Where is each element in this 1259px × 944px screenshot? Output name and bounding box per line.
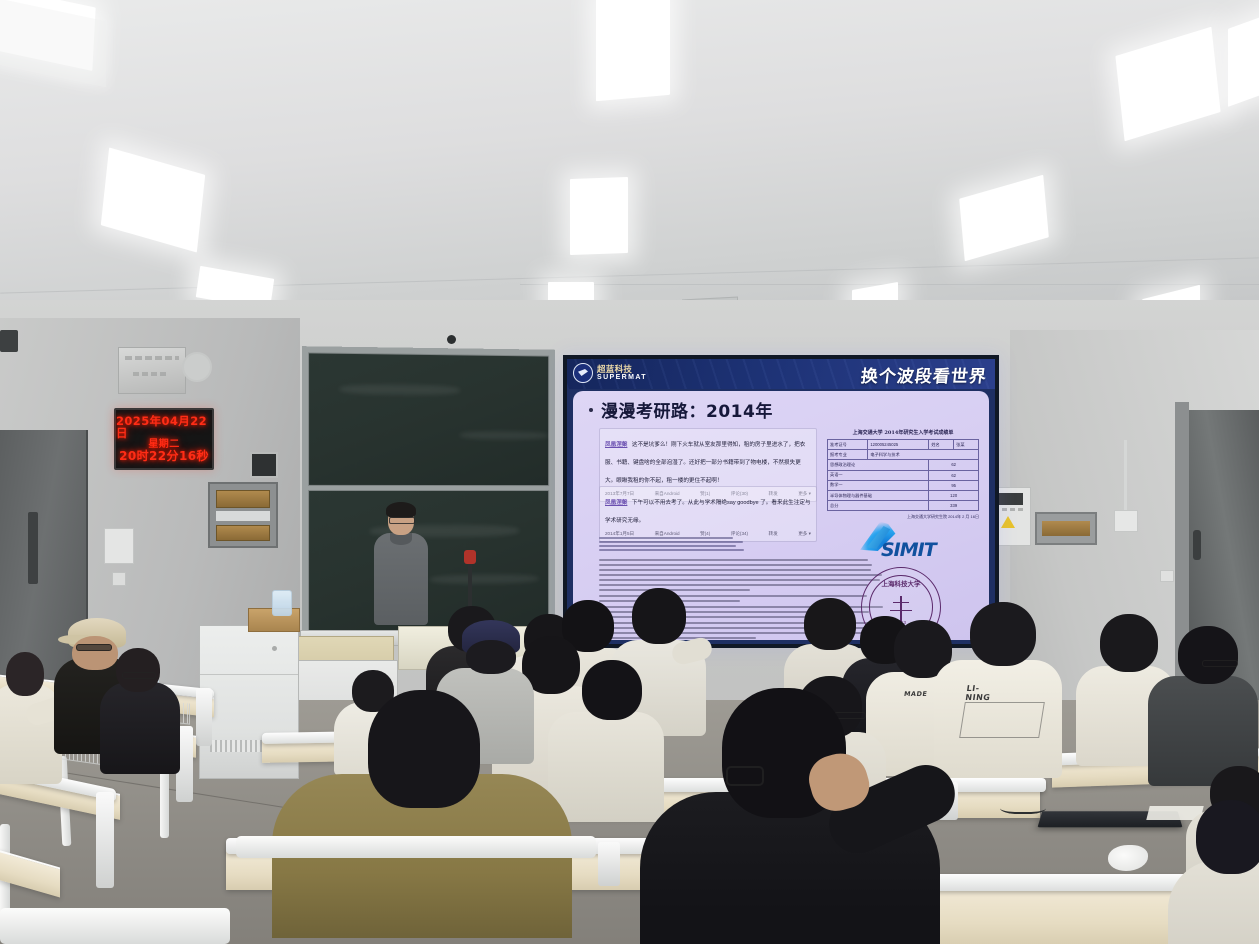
supermat-logo: 超蓝科技 SUPERMAT	[573, 363, 647, 383]
mail-paragraph	[599, 559, 885, 591]
mail-header-line	[599, 545, 736, 547]
chair-back	[236, 836, 596, 858]
desk-post	[196, 688, 212, 746]
score-value: 电子科学与技术	[868, 450, 979, 460]
glasses-icon	[726, 766, 764, 786]
sunglasses-icon	[76, 644, 112, 651]
door-handle-icon[interactable]	[28, 512, 38, 584]
seal-text-cn: 上海科技大学	[862, 578, 940, 588]
score-label: 报考专业	[828, 450, 868, 460]
classroom-photo: 2025年04月22日 星期二 20时22分16秒	[0, 0, 1259, 944]
glasses-icon	[389, 517, 415, 524]
mail-text-line	[599, 589, 750, 591]
mail-header-line	[599, 537, 733, 539]
mail-header-line	[599, 541, 743, 543]
score-label: 英语一	[828, 470, 929, 480]
score-label: 姓名	[929, 440, 954, 450]
slide-calligraphy: 换个波段看世界	[860, 362, 989, 387]
ceiling	[0, 0, 1259, 340]
mail-text-line	[599, 564, 872, 566]
ceiling-camera	[447, 335, 456, 344]
wall-plaque	[1035, 512, 1097, 545]
warning-triangle-icon	[1001, 516, 1015, 528]
desk-post	[598, 842, 620, 886]
light-switch[interactable]	[1160, 570, 1174, 582]
lecturer	[370, 505, 432, 625]
water-bottles	[272, 590, 292, 616]
supermat-badge-icon	[573, 363, 593, 383]
score-label: 准考证号	[828, 440, 868, 450]
ceiling-light-panel	[1115, 27, 1220, 142]
ceiling-light-panel	[101, 147, 205, 252]
simit-logo-text: SIMIT	[881, 539, 936, 561]
mail-header-line	[599, 549, 744, 551]
wall-equipment-box	[118, 347, 186, 394]
glasses-icon	[122, 672, 156, 679]
bullet-icon	[589, 408, 593, 412]
score-value: 95	[929, 480, 979, 490]
score-card-stamp: 上海交通大学研究生院 2014年 2 月 16日	[827, 514, 979, 520]
slide-title-row: 漫漫考研路：2014年	[589, 397, 773, 422]
junction-box	[1114, 510, 1138, 532]
score-value: 62	[929, 460, 979, 470]
mail-text-line	[599, 579, 880, 581]
desk-post	[96, 792, 114, 888]
weibo-username: 凤凰涅槃	[605, 500, 627, 506]
score-label: 半导体物理与器件基础	[828, 490, 929, 500]
wall-notice	[104, 528, 134, 564]
glasses-icon	[1202, 660, 1238, 667]
led-clock-display: 2025年04月22日 星期二 20时22分16秒	[114, 408, 214, 470]
mail-text-line	[599, 574, 882, 576]
ceiling-light-panel	[596, 0, 670, 101]
score-table: 准考证号 120005245025 姓名 张某 报考专业 电子科学与技术 思想政…	[827, 439, 979, 511]
score-card-title: 上海交通大学 2014年研究生入学考试成绩单	[827, 429, 979, 436]
weibo-username: 凤凰涅槃	[605, 442, 627, 448]
door-handle-icon[interactable]	[1193, 530, 1201, 560]
shirt-graphic: MADE	[903, 690, 927, 698]
cable	[1000, 800, 1046, 814]
score-value: 62	[929, 470, 979, 480]
simit-logo: SIMIT	[855, 521, 953, 561]
projector-mount	[182, 352, 212, 382]
wall-speaker	[0, 330, 18, 352]
weibo-text: 这不是坑爹么！刚下火车就从室友那里得知，租的房子里进水了，把衣服、书籍、键盘啥的…	[605, 442, 805, 484]
score-label: 数学一	[828, 480, 929, 490]
supermat-logo-cn: 超蓝科技	[597, 365, 647, 374]
score-value: 张某	[954, 440, 979, 450]
mail-text-line	[599, 569, 871, 571]
projection-screen: 超蓝科技 SUPERMAT 换个波段看世界 漫漫考研路：2014年 凤凰涅槃 这…	[563, 355, 999, 648]
slide-header: 超蓝科技 SUPERMAT 换个波段看世界	[567, 359, 995, 389]
score-value: 120	[929, 490, 979, 500]
seal-tower-icon	[900, 596, 902, 622]
score-value: 339	[929, 501, 979, 511]
score-label: 思想政治理论	[828, 460, 929, 470]
score-card: 上海交通大学 2014年研究生入学考试成绩单 准考证号 120005245025…	[827, 429, 979, 520]
mail-text-line	[599, 559, 868, 561]
clock-date: 2025年04月22日	[116, 416, 212, 440]
wall-conduit	[1124, 440, 1127, 512]
presentation-slide: 超蓝科技 SUPERMAT 换个波段看世界 漫漫考研路：2014年 凤凰涅槃 这…	[567, 359, 995, 644]
weibo-post: 凤凰涅槃 下午可以不用去考了。从此与学术隔绝say goodbye 了。看来此生…	[599, 486, 817, 542]
wall-monitor	[250, 452, 278, 478]
mail-text-line	[599, 584, 868, 586]
score-label: 总分	[828, 501, 929, 511]
clock-time: 20时22分16秒	[119, 450, 209, 462]
chair-back	[0, 908, 230, 944]
slide-title: 漫漫考研路：2014年	[601, 397, 773, 422]
fire-hose-cabinet[interactable]	[208, 482, 278, 548]
score-value: 120005245025	[868, 440, 929, 450]
shirt-graphic: LI-NING	[965, 684, 992, 702]
supermat-logo-en: SUPERMAT	[597, 374, 647, 381]
ceiling-light-panel	[959, 175, 1049, 261]
ceiling-light-panel	[1228, 7, 1259, 107]
light-switch[interactable]	[112, 572, 126, 586]
shirt-graphic-box	[959, 702, 1045, 738]
ceiling-light-panel	[570, 177, 628, 255]
weibo-text: 下午可以不用去考了。从此与学术隔绝say goodbye 了。看来此生注定与学术…	[605, 500, 811, 524]
